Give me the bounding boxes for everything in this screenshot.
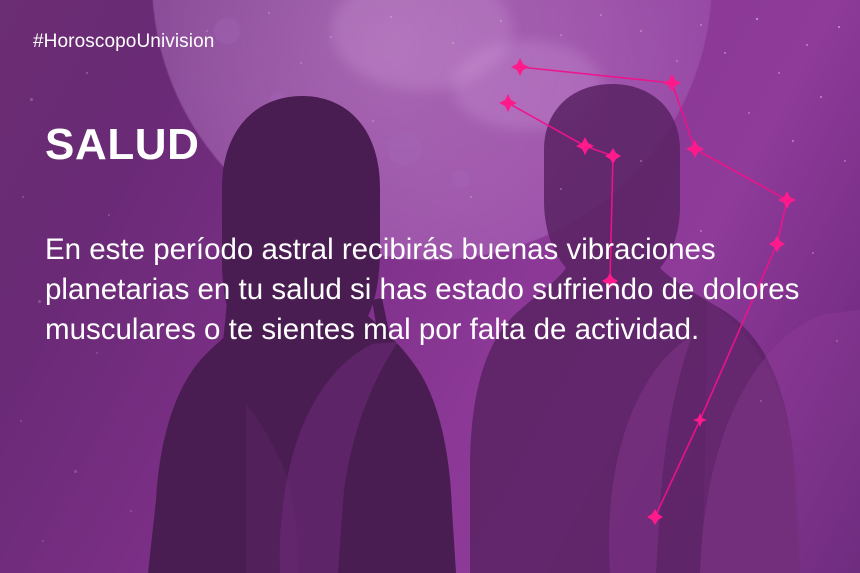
star-icon	[647, 509, 663, 525]
star-icon	[693, 413, 707, 427]
constellation-edge	[655, 420, 700, 517]
hashtag-label: #HoroscopoUnivision	[33, 31, 214, 53]
horoscope-card: #HoroscopoUnivision SALUD En este períod…	[0, 0, 860, 573]
constellation-edge	[695, 149, 787, 200]
moon-glow	[152, 0, 712, 260]
page-title: SALUD	[45, 119, 200, 171]
star-icon	[686, 140, 704, 158]
star-icon	[778, 191, 796, 209]
horoscope-body-text: En este período astral recibirás buenas …	[45, 230, 805, 350]
